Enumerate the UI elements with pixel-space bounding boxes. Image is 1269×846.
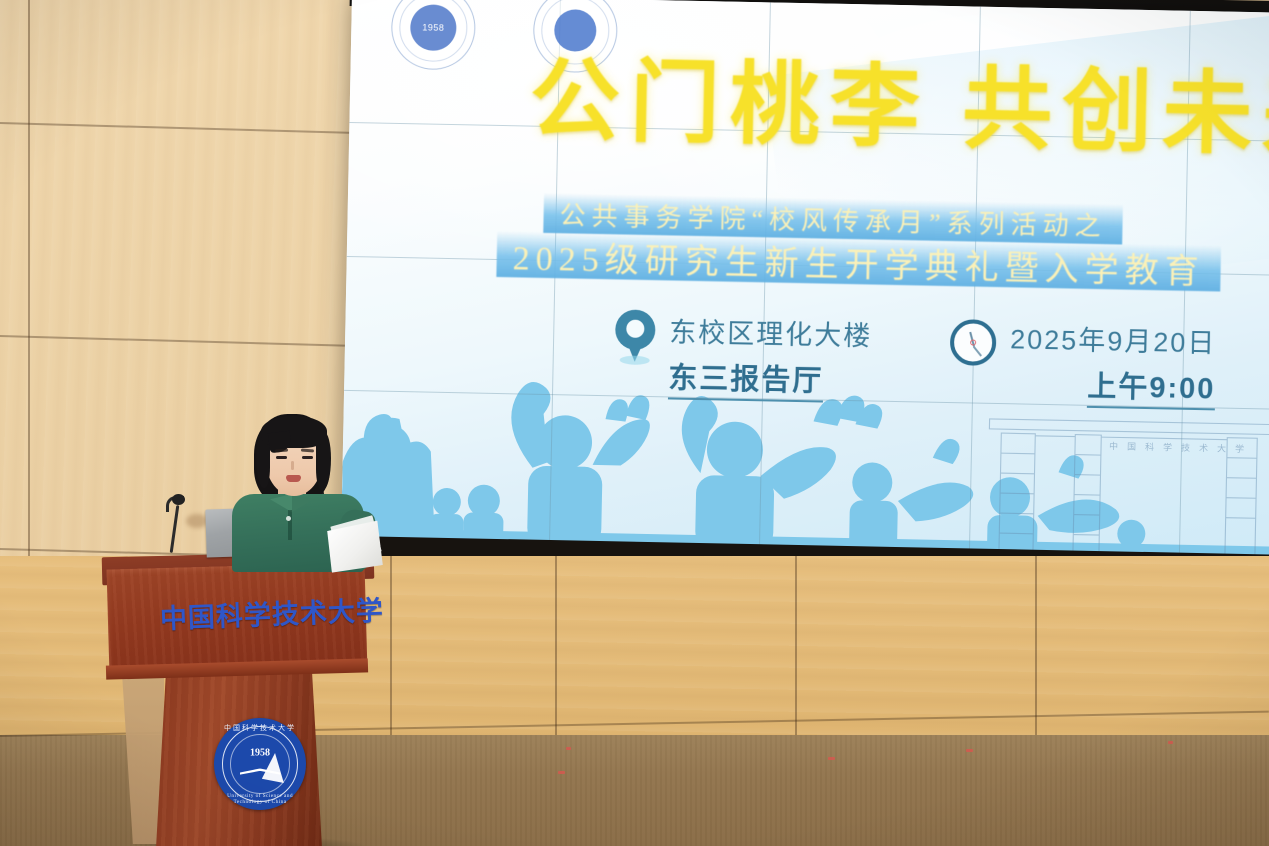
auditorium-photo-scene: 中国科学技术大学 1958 — [0, 0, 1269, 846]
event-date: 2025年9月20日 — [1010, 317, 1217, 360]
slide-location-info: 东校区理化大楼 东三报告厅 — [614, 309, 873, 403]
led-video-wall: 中国科学技术大学 1958 — [341, 0, 1269, 561]
campus-gate-illustration: 中国科学技术大学 — [977, 401, 1269, 557]
seal-top-arc-text: 中国科学技术大学 — [214, 723, 306, 733]
seal-year: 1958 — [250, 747, 270, 758]
seal-bottom-arc-text: University of Science and Technology of … — [214, 793, 306, 805]
podium-engraved-text: 中国科学技术大学 — [159, 590, 360, 637]
podium-side-panel — [122, 666, 164, 844]
location-pin-icon — [615, 309, 656, 362]
slide-info-row: 东校区理化大楼 东三报告厅 2025年9月20日 上午9:00 — [614, 309, 1269, 411]
slide-title: 公门桃李 共创未来 — [529, 56, 1269, 163]
ustc-emblem-logo: 1958 — [391, 0, 477, 70]
podium: 中国科学技术大学 1958 University of Science and … — [96, 536, 386, 846]
event-time: 上午9:00 — [1087, 363, 1216, 411]
microphone-icon — [172, 494, 185, 505]
presentation-slide: 中国科学技术大学 1958 — [341, 0, 1269, 561]
ustc-emblem-year: 1958 — [422, 22, 444, 32]
speaker-presenter — [214, 406, 394, 566]
clock-icon — [950, 319, 997, 366]
location-hall: 东三报告厅 — [668, 354, 824, 402]
ustc-seal: 中国科学技术大学 1958 University of Science and … — [214, 718, 306, 810]
slide-datetime-info: 2025年9月20日 上午9:00 — [949, 316, 1217, 410]
location-building: 东校区理化大楼 — [669, 310, 873, 353]
